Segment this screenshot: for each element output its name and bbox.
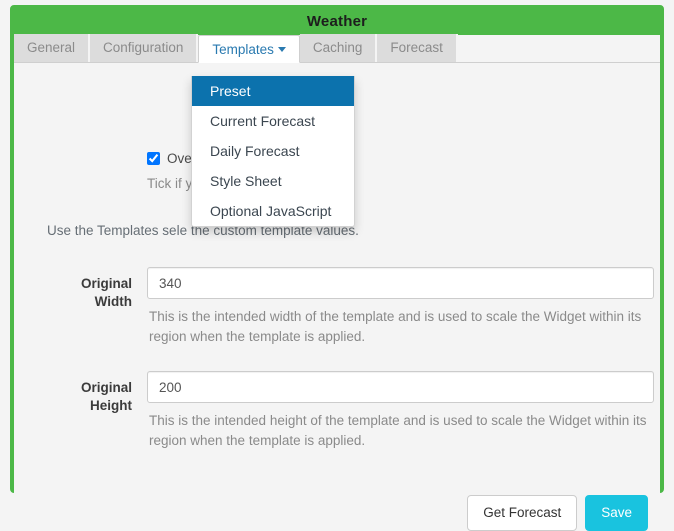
override-template-label: Ove bbox=[167, 151, 192, 166]
tab-forecast[interactable]: Forecast bbox=[377, 34, 458, 62]
weather-settings-panel: Weather General Configuration Templates … bbox=[10, 5, 664, 493]
original-width-help: This is the intended width of the templa… bbox=[149, 307, 659, 347]
original-height-label: Original Height bbox=[34, 379, 132, 415]
tab-strip: General Configuration Templates Caching … bbox=[14, 35, 660, 63]
original-width-input[interactable] bbox=[147, 267, 654, 299]
tab-templates-label: Templates bbox=[212, 42, 274, 57]
override-template-checkbox[interactable] bbox=[147, 152, 160, 165]
tab-configuration-label: Configuration bbox=[103, 40, 183, 55]
override-template-checkbox-row[interactable]: Ove bbox=[147, 151, 192, 166]
save-button[interactable]: Save bbox=[585, 495, 648, 531]
tab-configuration[interactable]: Configuration bbox=[90, 34, 198, 62]
get-forecast-button[interactable]: Get Forecast bbox=[467, 495, 577, 531]
original-height-input[interactable] bbox=[147, 371, 654, 403]
menu-item-style-sheet[interactable]: Style Sheet bbox=[192, 166, 354, 196]
original-width-label-line1: Original bbox=[81, 276, 132, 291]
tab-forecast-label: Forecast bbox=[390, 40, 443, 55]
original-height-label-line2: Height bbox=[90, 398, 132, 413]
menu-item-current-forecast[interactable]: Current Forecast bbox=[192, 106, 354, 136]
menu-item-optional-javascript[interactable]: Optional JavaScript bbox=[192, 196, 354, 226]
tab-general-label: General bbox=[27, 40, 75, 55]
menu-item-daily-forecast[interactable]: Daily Forecast bbox=[192, 136, 354, 166]
tab-templates[interactable]: Templates bbox=[198, 35, 300, 63]
original-width-label: Original Width bbox=[34, 275, 132, 311]
original-height-label-line1: Original bbox=[81, 380, 132, 395]
original-width-label-line2: Width bbox=[95, 294, 132, 309]
tab-general[interactable]: General bbox=[14, 34, 90, 62]
panel-title: Weather bbox=[14, 9, 660, 35]
menu-item-preset[interactable]: Preset bbox=[192, 76, 354, 106]
templates-dropdown-menu: Preset Current Forecast Daily Forecast S… bbox=[191, 76, 355, 227]
footer-actions: Get Forecast Save bbox=[467, 495, 648, 531]
original-height-help: This is the intended height of the templ… bbox=[149, 411, 659, 451]
chevron-down-icon bbox=[278, 47, 286, 52]
tab-caching-label: Caching bbox=[313, 40, 363, 55]
tab-caching[interactable]: Caching bbox=[300, 34, 378, 62]
